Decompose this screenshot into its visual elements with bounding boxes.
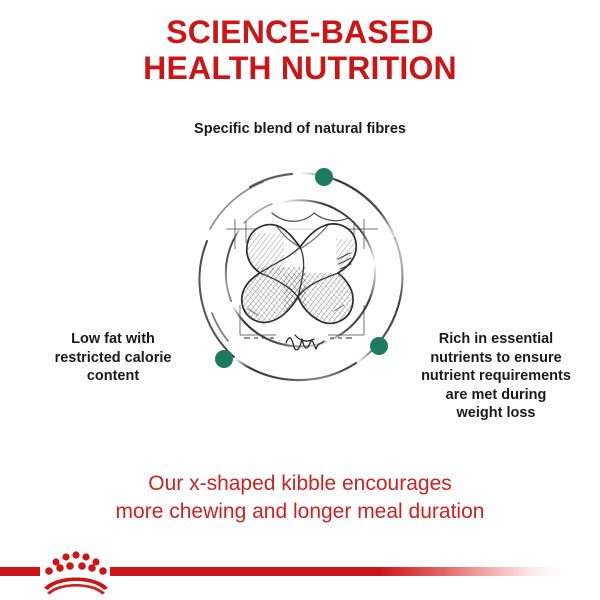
callout-left-line-1: Low fat with [18, 330, 208, 349]
marker-right-dot [370, 337, 388, 355]
brand-bar-right [110, 567, 575, 576]
poster-canvas: SCIENCE-BASED HEALTH NUTRITION Specific … [0, 0, 600, 600]
callout-right-line-1: Rich in essential [398, 330, 594, 349]
callout-top-line-1: Specific blend of natural fibres [150, 120, 450, 139]
callout-left-label: Low fat with restricted calorie content [18, 330, 208, 386]
callout-right-line-3: nutrient requirements [398, 367, 594, 386]
page-title-line-2: HEALTH NUTRITION [0, 50, 600, 86]
callout-right-line-4: are met during [398, 386, 594, 405]
kibble-diagram [188, 163, 416, 391]
callout-right-line-5: weight loss [398, 404, 594, 423]
crown-icon [44, 551, 108, 594]
sketch-signature [286, 335, 324, 350]
marker-left-dot [215, 350, 233, 368]
callout-left-line-2: restricted calorie [18, 349, 208, 368]
page-title: SCIENCE-BASED HEALTH NUTRITION [0, 14, 600, 86]
callout-right-line-2: nutrients to ensure [398, 349, 594, 368]
page-title-line-1: SCIENCE-BASED [0, 14, 600, 50]
strapline-line-1: Our x-shaped kibble encourages [0, 470, 600, 498]
brand-bar-left [0, 567, 40, 576]
brand-footer [0, 540, 600, 600]
strapline-line-2: more chewing and longer meal duration [0, 498, 600, 526]
kibble-shape [242, 213, 360, 333]
marker-top-dot [315, 168, 333, 186]
callout-top-label: Specific blend of natural fibres [150, 120, 450, 139]
callout-right-label: Rich in essential nutrients to ensure nu… [398, 330, 594, 423]
callout-left-line-3: content [18, 367, 208, 386]
strapline: Our x-shaped kibble encourages more chew… [0, 470, 600, 526]
